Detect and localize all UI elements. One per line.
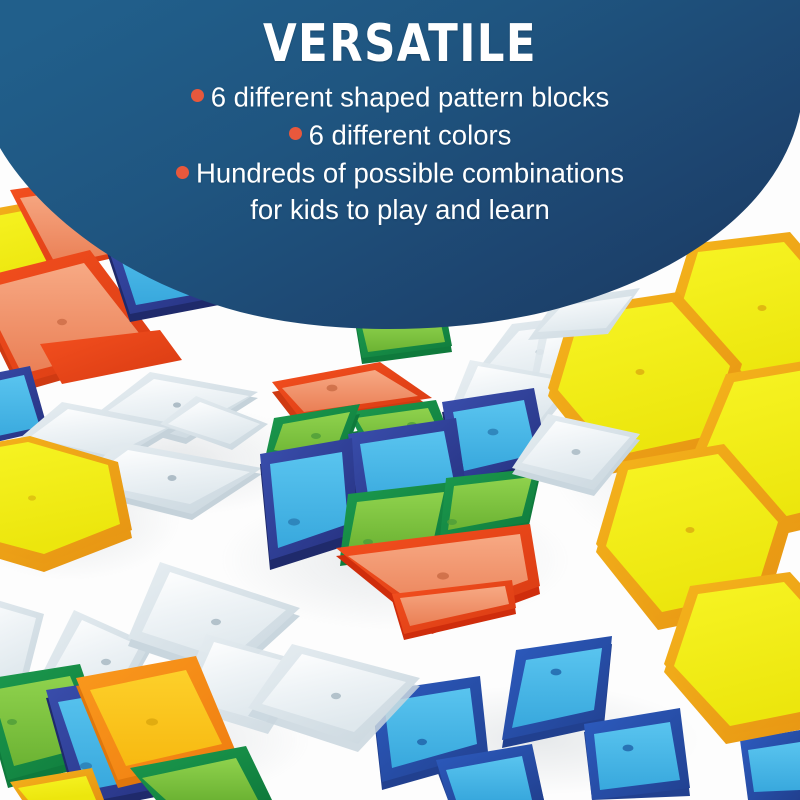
- poster: VERSATILE 6 different shaped pattern blo…: [0, 0, 800, 800]
- product-photo: [0, 0, 800, 800]
